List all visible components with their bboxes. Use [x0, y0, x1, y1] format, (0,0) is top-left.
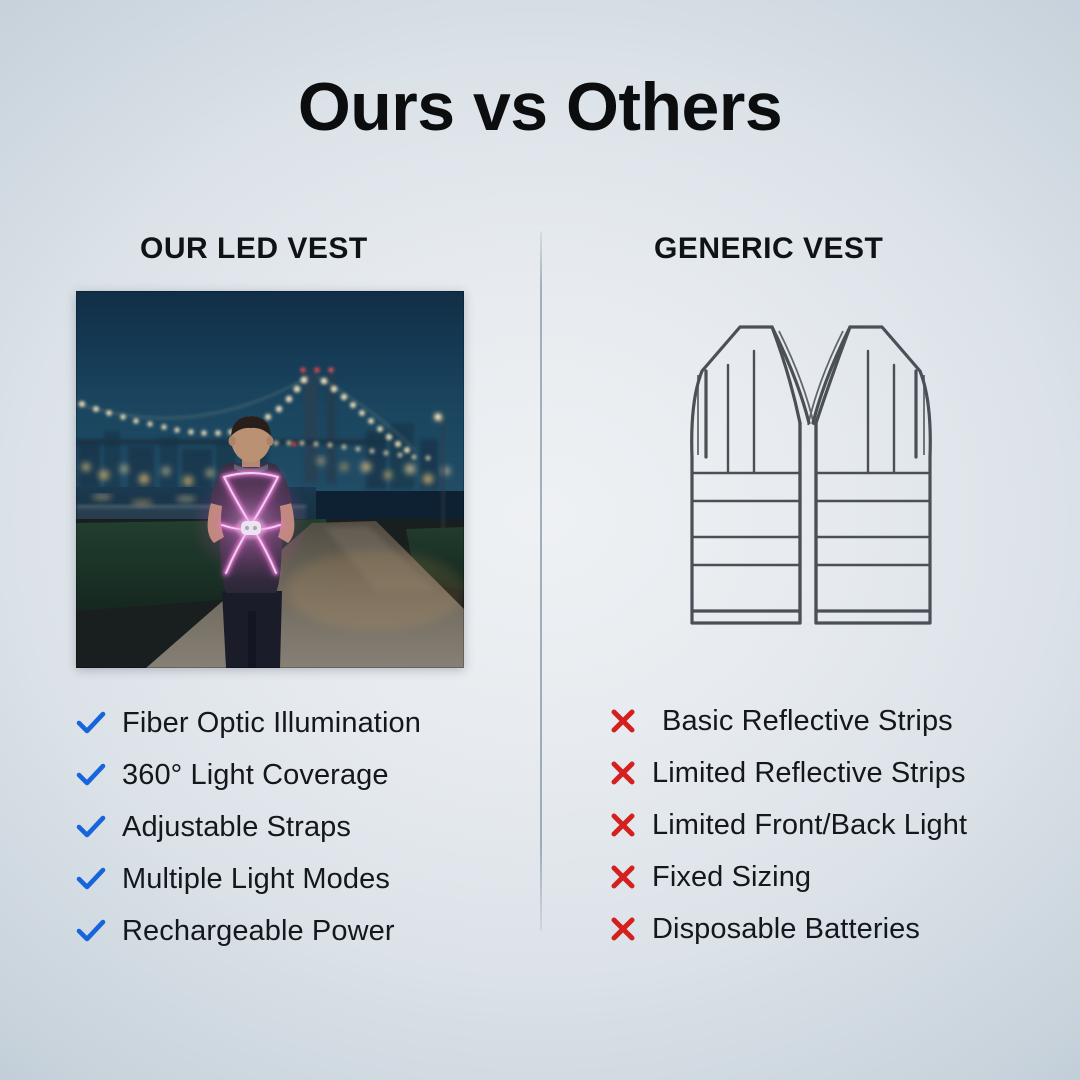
- list-item: Disposable Batteries: [606, 903, 1046, 955]
- list-item: Limited Reflective Strips: [606, 747, 1046, 799]
- column-heading-ours: OUR LED VEST: [140, 232, 368, 266]
- list-item: 360° Light Coverage: [74, 749, 524, 801]
- feature-label: Fiber Optic Illumination: [122, 707, 421, 740]
- list-item: Limited Front/Back Light: [606, 799, 1046, 851]
- feature-label: Basic Reflective Strips: [662, 705, 953, 738]
- cross-icon: [606, 916, 640, 942]
- check-icon: [74, 814, 108, 840]
- cross-icon: [606, 708, 640, 734]
- feature-label: Disposable Batteries: [652, 913, 920, 946]
- check-icon: [74, 762, 108, 788]
- product-photo: [76, 291, 464, 668]
- list-item: Adjustable Straps: [74, 801, 524, 853]
- page-title: Ours vs Others: [0, 72, 1080, 143]
- list-item: Fiber Optic Illumination: [74, 697, 524, 749]
- feature-label: 360° Light Coverage: [122, 759, 389, 792]
- feature-label: Limited Reflective Strips: [652, 757, 966, 790]
- feature-label: Multiple Light Modes: [122, 863, 390, 896]
- check-icon: [74, 866, 108, 892]
- check-icon: [74, 918, 108, 944]
- feature-label: Rechargeable Power: [122, 915, 395, 948]
- features-list-ours: Fiber Optic Illumination 360° Light Cove…: [74, 697, 524, 957]
- comparison-infographic: Ours vs Others OUR LED VEST GENERIC VEST: [0, 0, 1080, 1080]
- cross-icon: [606, 864, 640, 890]
- feature-label: Limited Front/Back Light: [652, 809, 967, 842]
- list-item: Rechargeable Power: [74, 905, 524, 957]
- list-item: Basic Reflective Strips: [606, 695, 1046, 747]
- generic-vest-illustration: [676, 305, 946, 635]
- feature-label: Adjustable Straps: [122, 811, 351, 844]
- features-list-generic: Basic Reflective Strips Limited Reflecti…: [606, 695, 1046, 955]
- column-heading-generic: GENERIC VEST: [654, 232, 883, 266]
- cross-icon: [606, 812, 640, 838]
- check-icon: [74, 710, 108, 736]
- list-item: Fixed Sizing: [606, 851, 1046, 903]
- cross-icon: [606, 760, 640, 786]
- feature-label: Fixed Sizing: [652, 861, 811, 894]
- column-divider: [540, 231, 542, 931]
- list-item: Multiple Light Modes: [74, 853, 524, 905]
